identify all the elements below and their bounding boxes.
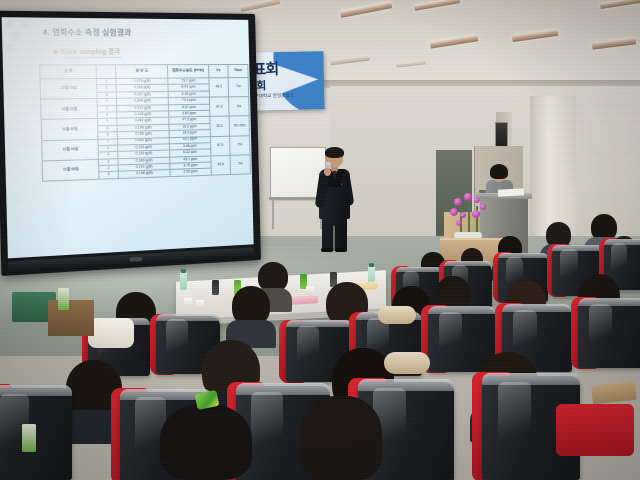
- seat-rim: [156, 314, 220, 321]
- cell-date: 11월 08일: [42, 159, 99, 181]
- seat-rim: [236, 383, 330, 395]
- audience-head: [160, 404, 252, 480]
- th-time: Time: [228, 65, 248, 78]
- seat-rim: [444, 261, 492, 267]
- cell-time: 7hr: [230, 154, 250, 174]
- drink-can: [212, 280, 219, 295]
- presenter-shoe: [321, 248, 333, 252]
- orchid-stem: [468, 200, 470, 236]
- screen-surface: ❄ ❄ ❄❄ 4. 염화수소 측정 실험결과 ◆ Stack sampling …: [2, 17, 254, 258]
- seat-rim: [358, 379, 454, 391]
- seat-highlight: [589, 304, 612, 357]
- slide-title: 4. 염화수소 측정 실험결과: [43, 27, 132, 38]
- audience-member: [158, 404, 254, 480]
- orchid-bloom: [460, 212, 466, 218]
- slide-data-table: 날 짜 중 량 도 염화수소농도 (PPM) Vs Time 10월 29일10…: [39, 64, 251, 182]
- wall-speaker-icon: [495, 122, 508, 148]
- orchid-bloom: [474, 197, 480, 203]
- screen-pull-knob-icon[interactable]: [129, 257, 142, 262]
- cell-date: 11월 02일: [41, 119, 98, 140]
- th-date: 날 짜: [40, 65, 97, 79]
- audience-member: [298, 396, 384, 480]
- seat-rim: [286, 320, 352, 327]
- fur-hood-trim: [378, 306, 416, 324]
- cell-vs: 47.3: [209, 97, 229, 117]
- presenter-leg-gap: [333, 226, 335, 251]
- seat-rim: [502, 304, 572, 312]
- bottle-cap-icon: [369, 263, 374, 267]
- orchid-bloom: [450, 208, 458, 216]
- seat-highlight: [166, 319, 188, 364]
- water-bottle: [180, 272, 187, 290]
- cell-ppm: 2.93 ppm: [170, 169, 211, 177]
- cell-no: 3: [99, 172, 118, 179]
- presenter: [312, 148, 358, 252]
- seat-highlight: [251, 392, 283, 467]
- orchid-bloom: [456, 220, 462, 226]
- lecture-hall-photo: 대 구 · 20(금) 발표회 표회 대구대학교 한영공업고 ❄ ❄ ❄❄ 4.…: [0, 0, 640, 480]
- bottle-cap-icon: [181, 269, 186, 273]
- whiteboard-leg: [272, 199, 274, 229]
- cell-weight: 0.198 g(Ø): [118, 170, 170, 178]
- pink-box: [290, 295, 318, 304]
- cell-vs: 49.6: [210, 155, 230, 175]
- seat-highlight: [498, 382, 531, 463]
- banner-swoosh-icon: [273, 51, 324, 111]
- presenter-hair: [325, 147, 344, 158]
- slide-bullet: ◆ Stack sampling 결과: [52, 46, 122, 56]
- cell-time: 7hr: [228, 78, 248, 97]
- table-body: 10월 29일10.276 g(Ø)73.2 ppm48.37hr20.116 …: [40, 78, 250, 182]
- cell-vs: 57.5: [210, 136, 230, 156]
- seat-rim: [552, 245, 604, 251]
- seat-cushion-folded[interactable]: [556, 404, 634, 456]
- seat-rim: [396, 267, 442, 272]
- presentation-slide: ❄ ❄ ❄❄ 4. 염화수소 측정 실험결과 ◆ Stack sampling …: [2, 17, 254, 258]
- snowflake-icon: ❄ ❄ ❄❄: [4, 19, 44, 73]
- white-coat: [88, 318, 134, 348]
- paper-cup: [184, 298, 192, 307]
- cell-time: 7hr: [229, 97, 249, 117]
- seat-highlight: [439, 312, 462, 362]
- th-weight: 중 량 도: [115, 65, 167, 79]
- drink-can: [22, 424, 36, 452]
- cell-vs: 52.6: [209, 116, 229, 136]
- orchid-bloom: [480, 204, 486, 210]
- fur-hood-trim: [384, 352, 430, 374]
- audience-member: [226, 286, 276, 344]
- orchid-bloom: [472, 210, 480, 218]
- cell-time: 7hr 40m: [229, 116, 249, 136]
- presenter-shoe: [335, 248, 347, 252]
- presenter-hand: [324, 168, 331, 176]
- seat-highlight: [297, 326, 319, 373]
- cell-date: 10월 29일: [40, 79, 97, 100]
- podium-papers: [498, 188, 524, 196]
- seat-rim: [428, 306, 496, 314]
- seat-rim: [498, 253, 548, 259]
- cell-vs: 48.3: [209, 78, 229, 98]
- orchid-bloom: [454, 198, 462, 206]
- seat-armrest: [591, 382, 637, 405]
- th-ppm: 염화수소농도 (PPM): [168, 65, 209, 78]
- orchid-bloom: [464, 193, 472, 201]
- auditorium-seat[interactable]: [578, 300, 640, 368]
- auditorium-seat[interactable]: [0, 388, 72, 480]
- seat-rim: [482, 373, 580, 385]
- th-vs: Vs: [208, 65, 228, 78]
- paper-cup: [196, 300, 204, 309]
- wooden-panel: [48, 300, 94, 336]
- podium-person-hair: [490, 164, 508, 179]
- audience-head: [300, 396, 382, 480]
- drink-can: [58, 288, 69, 310]
- slide-bullet-text: Stack sampling 결과: [60, 49, 122, 59]
- cell-date: 10월 30일: [41, 99, 98, 120]
- projection-screen: ❄ ❄ ❄❄ 4. 염화수소 측정 실험결과 ◆ Stack sampling …: [0, 11, 261, 276]
- cell-date: 11월 04일: [42, 139, 99, 161]
- paper-cup: [306, 286, 314, 295]
- th-no: [96, 65, 115, 79]
- cell-time: 7hr: [230, 135, 250, 155]
- bullet-marker-icon: ◆: [52, 49, 58, 56]
